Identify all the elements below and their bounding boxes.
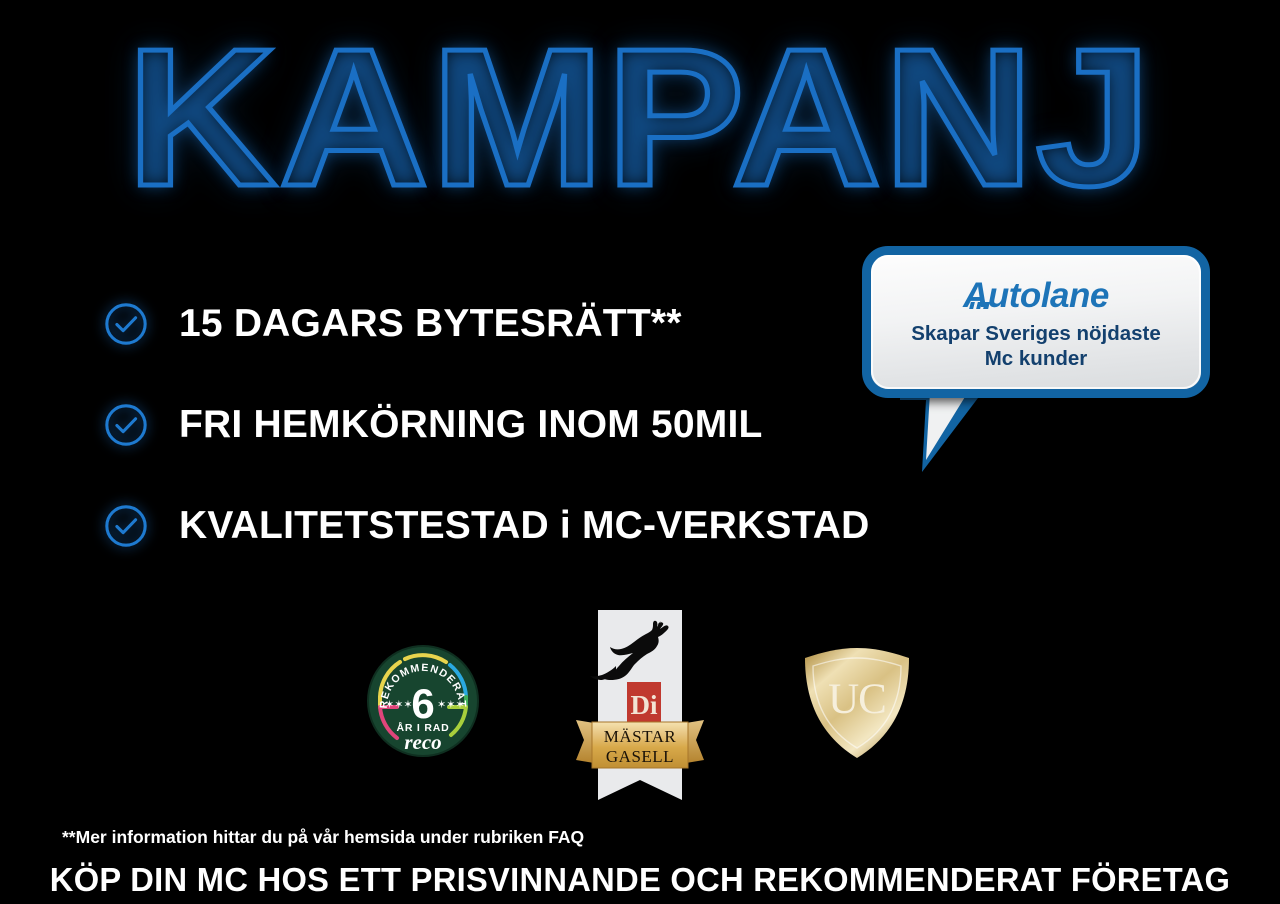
gasell-badge: Di MÄSTAR GASELL [570,604,710,820]
speech-bubble-tail [882,386,1002,476]
uc-badge: UC [795,640,919,764]
autolane-logo-text: Autolane [963,278,1109,314]
reco-number: 6 [411,680,434,727]
autolane-logo-road-mark [969,302,990,309]
footer-tagline: KÖP DIN MC HOS ETT PRISVINNANDE OCH REKO… [6,861,1273,899]
di-logo-text: Di [631,690,658,720]
campaign-poster: KAMPANJ 15 DAGARS BYTESRÄTT** FRI HEMKÖR… [0,0,1280,904]
check-circle-icon [103,402,149,448]
reco-brand: reco [404,730,441,754]
gasell-line1: MÄSTAR [604,727,677,746]
reco-stars-right: ✶✶✶ [437,699,465,711]
reco-stars-left: ✶✶✶ [385,699,413,711]
bubble-tagline-line1: Skapar Sveriges nöjdaste [911,322,1161,345]
benefits-list: 15 DAGARS BYTESRÄTT** FRI HEMKÖRNING INO… [103,292,893,595]
gasell-line2: GASELL [606,747,674,766]
check-circle-icon [103,301,149,347]
award-badges: REKOMMENDERAT ✶✶✶ ✶✶✶ 6 ÅR I RAD reco [0,592,1280,820]
list-item: 15 DAGARS BYTESRÄTT** [103,292,893,356]
list-item-label: KVALITETSTESTAD i MC-VERKSTAD [179,504,869,548]
list-item: FRI HEMKÖRNING INOM 50MIL [103,393,893,457]
footnote-text: **Mer information hittar du på vår hemsi… [62,826,584,848]
list-item: KVALITETSTESTAD i MC-VERKSTAD [103,494,893,558]
speech-bubble-body: Autolane Skapar Sveriges nöjdaste Mc kun… [862,246,1210,398]
list-item-label: 15 DAGARS BYTESRÄTT** [179,302,682,346]
check-circle-icon [103,503,149,549]
autolane-speech-bubble: Autolane Skapar Sveriges nöjdaste Mc kun… [862,246,1210,476]
reco-badge: REKOMMENDERAT ✶✶✶ ✶✶✶ 6 ÅR I RAD reco [367,645,479,757]
bubble-tagline: Skapar Sveriges nöjdaste Mc kunder [879,321,1193,371]
autolane-logo: Autolane [871,278,1201,314]
page-title: KAMPANJ [0,18,1280,218]
list-item-label: FRI HEMKÖRNING INOM 50MIL [179,403,763,447]
uc-label: UC [828,676,886,723]
bubble-tagline-line2: Mc kunder [985,347,1088,370]
